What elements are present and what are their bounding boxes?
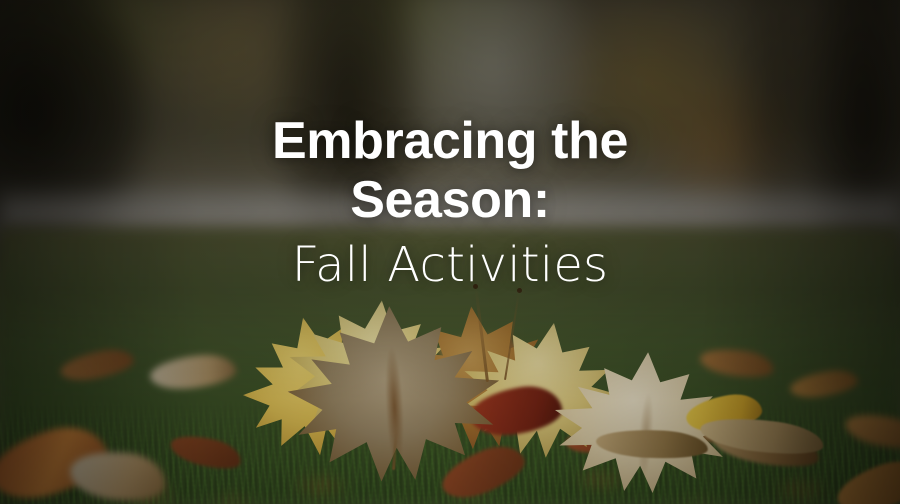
title-line-2: Season: (0, 171, 900, 230)
scattered-leaf (565, 425, 637, 455)
scattered-leaf (832, 453, 900, 504)
scattered-leaf (329, 339, 411, 374)
leaf-stem (392, 430, 398, 470)
hero-banner: Embracing the Season: Fall Activities (0, 0, 900, 504)
scattered-leaf (58, 345, 136, 385)
page-subtitle: Fall Activities (0, 237, 900, 293)
scattered-leaf (436, 437, 531, 504)
scattered-leaf (843, 408, 900, 453)
grass-blade-texture (0, 400, 900, 504)
scattered-leaf (710, 421, 822, 473)
hero-text-block: Embracing the Season: Fall Activities (0, 112, 900, 293)
scattered-leaf (168, 430, 245, 475)
scattered-leaf (0, 417, 114, 504)
scattered-leaf (149, 352, 238, 393)
upright-stem (504, 291, 520, 380)
pile-leaf-tan-strip (595, 427, 708, 461)
scattered-leaf (699, 345, 776, 381)
scattered-leaf (789, 367, 860, 401)
pile-leaf-red (467, 382, 565, 440)
scattered-leaf (639, 407, 738, 447)
scattered-leaf (67, 446, 168, 504)
pile-leaf-yellow-left (230, 302, 407, 474)
title-line-1: Embracing the (0, 112, 900, 171)
page-title: Embracing the Season: (0, 112, 900, 230)
pile-leaf-bright-yellow (684, 390, 764, 435)
upright-stem (474, 287, 488, 383)
pile-leaf-yellow-top (281, 291, 468, 458)
pile-leaf-cream-right (549, 346, 737, 504)
pile-leaf-tan-strip (699, 413, 826, 460)
